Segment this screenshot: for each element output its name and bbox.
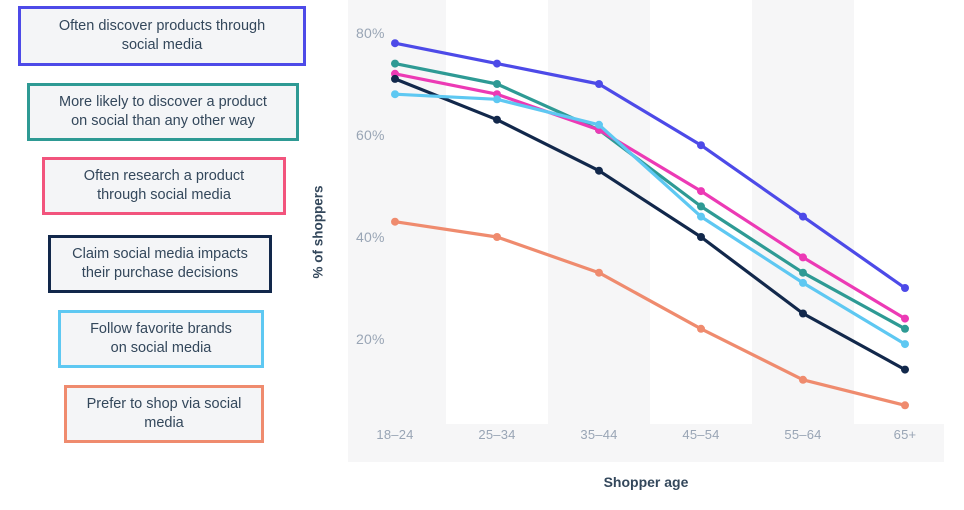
- data-point[interactable]: [901, 366, 909, 374]
- data-point[interactable]: [391, 218, 399, 226]
- plot-canvas: 20%40%60%80%18–2425–3435–4445–5455–6465+: [348, 0, 944, 462]
- y-axis-title: % of shoppers: [311, 185, 326, 278]
- series-layer: [348, 0, 944, 462]
- legend-item-4[interactable]: Follow favorite brandson social media: [58, 310, 264, 368]
- data-point[interactable]: [901, 315, 909, 323]
- data-point[interactable]: [799, 269, 807, 277]
- data-point[interactable]: [799, 376, 807, 384]
- legend-item-1[interactable]: More likely to discover a producton soci…: [27, 83, 299, 141]
- series-line: [395, 94, 905, 344]
- data-point[interactable]: [697, 202, 705, 210]
- data-point[interactable]: [901, 284, 909, 292]
- data-point[interactable]: [595, 269, 603, 277]
- data-point[interactable]: [697, 233, 705, 241]
- legend-item-label: Often research a productthrough social m…: [84, 167, 244, 205]
- data-point[interactable]: [697, 213, 705, 221]
- series-1: [391, 60, 909, 333]
- data-point[interactable]: [595, 167, 603, 175]
- data-point[interactable]: [391, 39, 399, 47]
- legend-item-label: More likely to discover a producton soci…: [59, 93, 267, 131]
- data-point[interactable]: [391, 75, 399, 83]
- series-3: [391, 75, 909, 374]
- legend-item-label: Follow favorite brandson social media: [90, 320, 232, 358]
- data-point[interactable]: [697, 141, 705, 149]
- data-point[interactable]: [697, 187, 705, 195]
- data-point[interactable]: [697, 325, 705, 333]
- legend-item-0[interactable]: Often discover products throughsocial me…: [18, 6, 306, 66]
- legend-item-5[interactable]: Prefer to shop via socialmedia: [64, 385, 264, 443]
- data-point[interactable]: [493, 95, 501, 103]
- chart-plot-area: 20%40%60%80%18–2425–3435–4445–5455–6465+: [348, 0, 964, 462]
- data-point[interactable]: [595, 80, 603, 88]
- data-point[interactable]: [493, 233, 501, 241]
- legend-item-label: Claim social media impactstheir purchase…: [72, 245, 248, 283]
- legend-item-3[interactable]: Claim social media impactstheir purchase…: [48, 235, 272, 293]
- chart-legend: Often discover products throughsocial me…: [0, 0, 330, 460]
- data-point[interactable]: [493, 80, 501, 88]
- x-axis-title: Shopper age: [348, 474, 944, 490]
- legend-item-2[interactable]: Often research a productthrough social m…: [42, 157, 286, 215]
- legend-item-label: Prefer to shop via socialmedia: [87, 395, 242, 433]
- series-line: [395, 79, 905, 370]
- chart-page: Often discover products throughsocial me…: [0, 0, 964, 510]
- data-point[interactable]: [799, 213, 807, 221]
- data-point[interactable]: [493, 116, 501, 124]
- series-line: [395, 222, 905, 406]
- series-5: [391, 218, 909, 410]
- legend-item-label: Often discover products throughsocial me…: [59, 17, 265, 55]
- data-point[interactable]: [391, 90, 399, 98]
- series-line: [395, 64, 905, 329]
- data-point[interactable]: [799, 310, 807, 318]
- data-point[interactable]: [799, 279, 807, 287]
- data-point[interactable]: [901, 325, 909, 333]
- data-point[interactable]: [493, 60, 501, 68]
- data-point[interactable]: [799, 253, 807, 261]
- data-point[interactable]: [901, 340, 909, 348]
- data-point[interactable]: [595, 121, 603, 129]
- data-point[interactable]: [391, 60, 399, 68]
- data-point[interactable]: [901, 401, 909, 409]
- series-4: [391, 90, 909, 348]
